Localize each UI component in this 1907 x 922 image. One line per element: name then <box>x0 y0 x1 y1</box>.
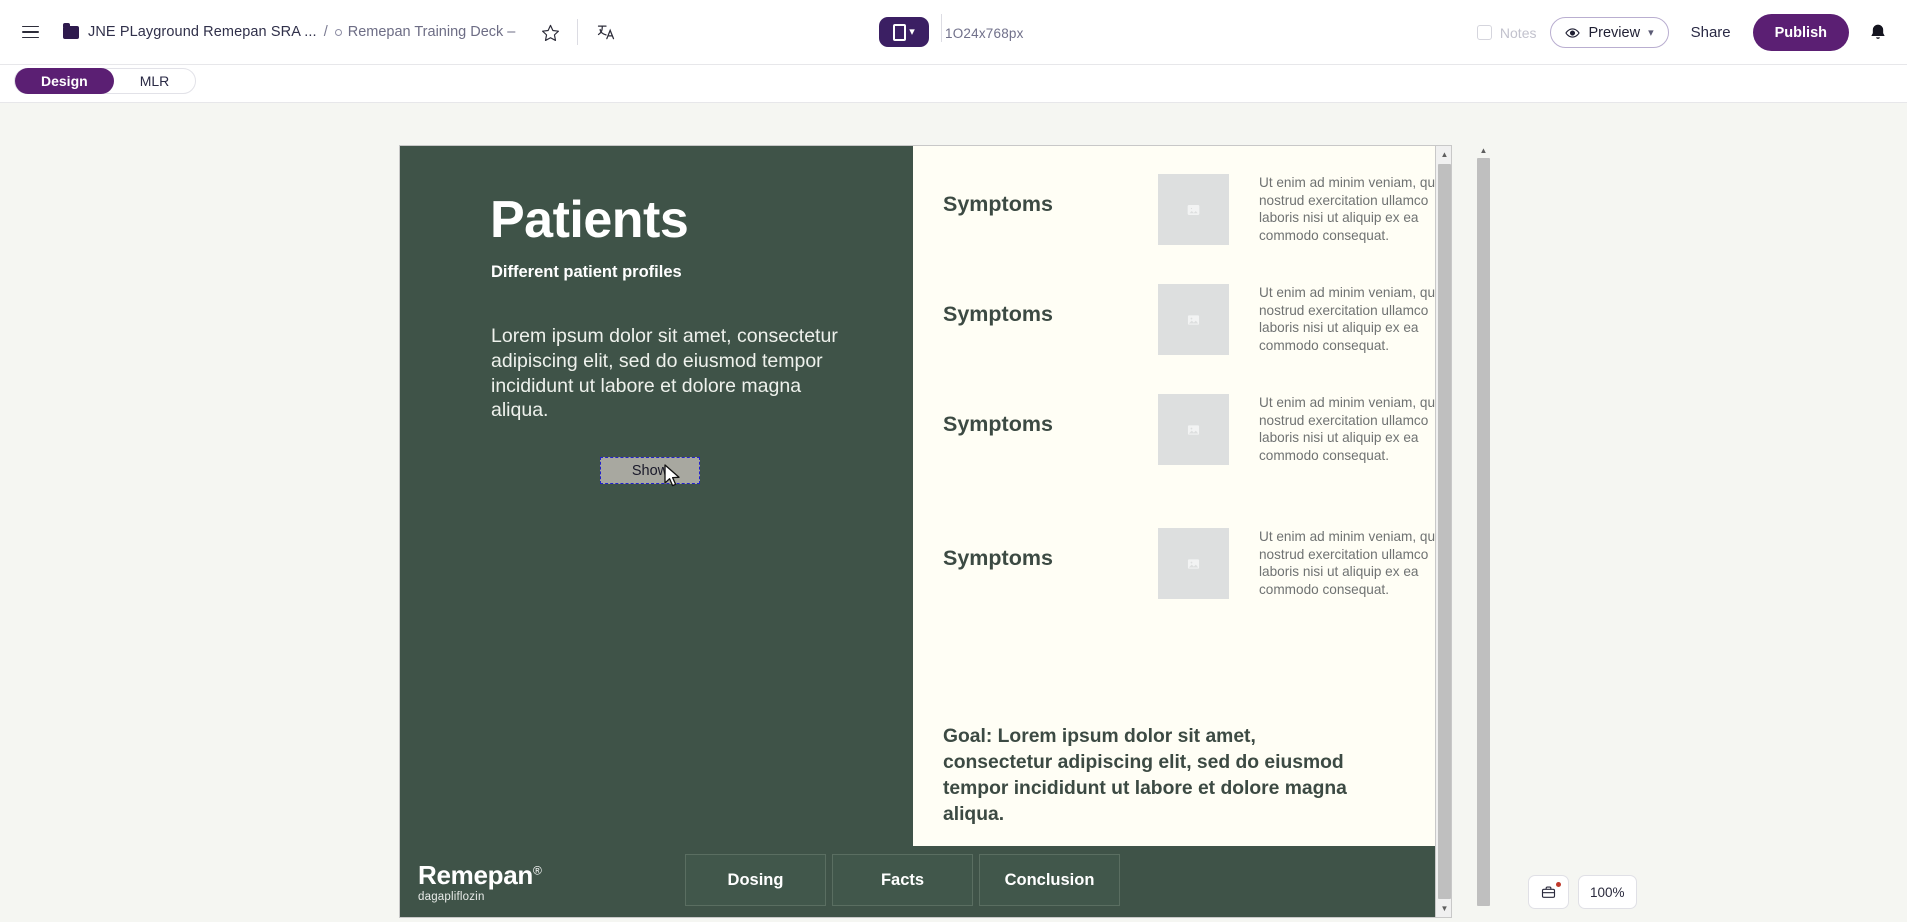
symptom-text: Ut enim ad minim veniam, quis nostrud ex… <box>1259 174 1435 244</box>
canvas-scrollbar[interactable]: ▲ <box>1475 142 1492 922</box>
symptom-label: Symptoms <box>943 174 1158 217</box>
symptom-text: Ut enim ad minim veniam, quis nostrud ex… <box>1259 394 1435 464</box>
symptom-row: Symptoms Ut enim ad minim veniam, quis n… <box>943 174 1435 245</box>
show-button[interactable]: Show <box>600 457 700 484</box>
slide-footer: Remepan® dagapliflozin Dosing Facts Conc… <box>400 846 1435 918</box>
viewport-size-label: 1O24x768px <box>945 26 1065 41</box>
symptom-row: Symptoms Ut enim ad minim veniam, quis n… <box>943 284 1435 355</box>
slide-subtitle: Different patient profiles <box>491 263 682 282</box>
slide-body: Patients Different patient profiles Lore… <box>400 146 1435 846</box>
breadcrumb-deck[interactable]: Remepan Training Deck – <box>348 24 516 40</box>
nav-button-facts[interactable]: Facts <box>832 854 973 906</box>
symptom-label: Symptoms <box>943 394 1158 437</box>
star-icon[interactable] <box>537 19 563 45</box>
top-toolbar: JNE PLayground Remepan SRA ... / Remepan… <box>0 0 1907 65</box>
checkbox-icon <box>1477 25 1492 40</box>
breadcrumb-project[interactable]: JNE PLayground Remepan SRA ... <box>88 24 317 40</box>
deck-status-icon <box>335 29 342 36</box>
toolbar-divider <box>577 19 578 45</box>
slide-nav-buttons: Dosing Facts Conclusion <box>685 854 1120 906</box>
canvas-bottom-controls: 100% <box>1528 875 1637 909</box>
toolbox-button[interactable] <box>1528 875 1569 909</box>
tab-design[interactable]: Design <box>15 68 114 94</box>
slide-body-text: Lorem ipsum dolor sit amet, consectetur … <box>491 324 851 423</box>
notification-dot <box>1556 882 1561 887</box>
goal-text: Goal: Lorem ipsum dolor sit amet, consec… <box>943 724 1351 828</box>
slide-left-pane: Patients Different patient profiles Lore… <box>400 146 913 846</box>
image-placeholder-icon <box>1158 284 1229 355</box>
publish-button[interactable]: Publish <box>1753 14 1849 51</box>
symptom-text: Ut enim ad minim veniam, quis nostrud ex… <box>1259 284 1435 354</box>
canvas-scrollbar-thumb[interactable] <box>1477 158 1490 906</box>
nav-button-dosing[interactable]: Dosing <box>685 854 826 906</box>
slide-right-pane: Symptoms Ut enim ad minim veniam, quis n… <box>913 146 1435 846</box>
symptom-label: Symptoms <box>943 284 1158 327</box>
image-placeholder-icon <box>1158 528 1229 599</box>
slide-scrollbar[interactable]: ▲ ▼ <box>1435 145 1452 918</box>
brand-generic-name: dagapliflozin <box>418 891 542 903</box>
tab-mlr[interactable]: MLR <box>114 68 196 94</box>
translate-icon[interactable] <box>592 18 620 46</box>
scroll-up-icon[interactable]: ▲ <box>1436 146 1453 163</box>
viewport-divider <box>941 14 942 42</box>
symptom-row: Symptoms Ut enim ad minim veniam, quis n… <box>943 528 1435 599</box>
symptom-label: Symptoms <box>943 528 1158 571</box>
mode-tabbar: Design MLR <box>0 65 1907 103</box>
preview-label: Preview <box>1588 25 1640 41</box>
brand-name-text: Remepan <box>418 860 533 890</box>
device-screen-icon <box>893 24 906 41</box>
image-placeholder-icon <box>1158 174 1229 245</box>
folder-icon <box>63 26 79 39</box>
registered-mark: ® <box>533 863 542 877</box>
breadcrumb-separator: / <box>324 24 328 40</box>
zoom-level-button[interactable]: 100% <box>1578 875 1637 909</box>
eye-icon <box>1565 25 1580 40</box>
scroll-down-icon[interactable]: ▼ <box>1436 900 1453 917</box>
slide-preview[interactable]: Patients Different patient profiles Lore… <box>399 145 1435 918</box>
share-button[interactable]: Share <box>1691 24 1731 41</box>
scroll-up-icon[interactable]: ▲ <box>1475 142 1492 159</box>
slide-scrollbar-thumb[interactable] <box>1438 164 1451 899</box>
image-placeholder-icon <box>1158 394 1229 465</box>
brand-lockup: Remepan® dagapliflozin <box>418 862 542 903</box>
toolbar-right-group: Notes Preview ▾ Share Publish <box>1477 0 1907 65</box>
editor-canvas: Patients Different patient profiles Lore… <box>0 104 1907 918</box>
chevron-down-icon: ▾ <box>909 27 915 38</box>
mode-segmented-control: Design MLR <box>14 68 196 94</box>
notes-toggle[interactable]: Notes <box>1477 25 1537 41</box>
viewport-selector[interactable]: ▾ <box>879 17 929 47</box>
nav-button-conclusion[interactable]: Conclusion <box>979 854 1120 906</box>
bell-icon[interactable] <box>1865 20 1891 46</box>
preview-button[interactable]: Preview ▾ <box>1550 17 1668 48</box>
hamburger-icon[interactable] <box>13 15 47 49</box>
symptom-row: Symptoms Ut enim ad minim veniam, quis n… <box>943 394 1435 465</box>
notes-label: Notes <box>1500 25 1537 41</box>
brand-name: Remepan® <box>418 862 542 888</box>
slide-title: Patients <box>490 190 688 250</box>
symptom-text: Ut enim ad minim veniam, quis nostrud ex… <box>1259 528 1435 598</box>
chevron-down-icon: ▾ <box>1648 26 1654 39</box>
